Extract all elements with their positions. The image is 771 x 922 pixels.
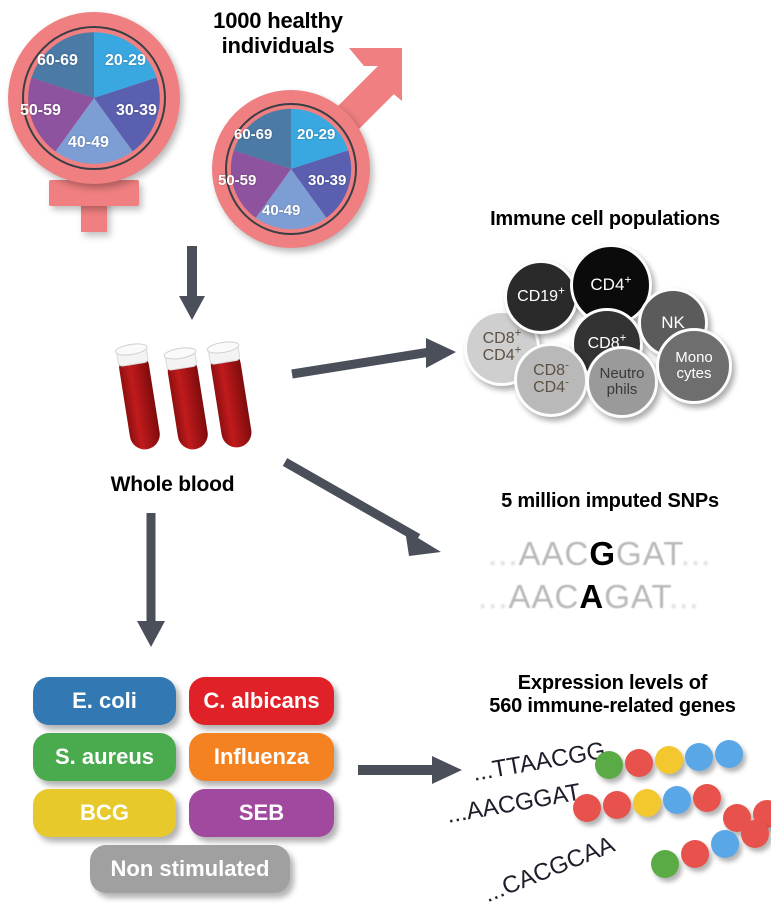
- stimulus-pill-e-coli[interactable]: E. coli: [33, 677, 176, 725]
- immune-cell-cd8p-cd4p-label: CD8+CD4+: [483, 331, 522, 365]
- expression-strand-3-sequence: ...CACGCAA: [480, 831, 619, 909]
- expression-bead: [681, 840, 709, 868]
- stimulus-pill-influenza-label: Influenza: [214, 744, 309, 770]
- snp-row2-suffix: ...: [669, 578, 700, 615]
- snp-row2-prefix: ...: [478, 578, 509, 615]
- immune-populations-title: Immune cell populations: [455, 208, 755, 231]
- diagram-canvas: 1000 healthy individuals 20-29 30-39 40-…: [0, 0, 771, 922]
- male-age-label-50-59: 50-59: [218, 172, 256, 189]
- immune-cell-neutrophils: Neutrophils: [586, 346, 658, 418]
- arrow-stimulation-to-expression: [358, 752, 468, 788]
- stimulus-pill-non-stimulated-label: Non stimulated: [111, 856, 270, 882]
- expression-bead: [651, 850, 679, 878]
- male-age-label-30-39: 30-39: [308, 172, 346, 189]
- arrow-blood-to-immune: [290, 330, 470, 390]
- stimulus-pill-s-aureus-label: S. aureus: [55, 744, 154, 770]
- immune-cell-cd8n-cd4n-label: CD8-CD4-: [533, 363, 569, 397]
- snps-title: 5 million imputed SNPs: [460, 490, 760, 513]
- expression-bead: [693, 784, 721, 812]
- expression-bead: [655, 746, 683, 774]
- arrow-blood-to-stimulation: [134, 513, 168, 648]
- expression-bead: [603, 791, 631, 819]
- male-gender-symbol: 20-29 30-39 40-49 50-59 60-69: [212, 42, 417, 247]
- snp-row1-prefix: ...: [488, 535, 519, 572]
- female-age-label-20-29: 20-29: [105, 52, 146, 70]
- stimulus-pill-c-albicans[interactable]: C. albicans: [189, 677, 334, 725]
- blood-tubes-icon: [108, 338, 263, 458]
- snp-row1-left: AAC: [519, 535, 590, 572]
- immune-cell-neutrophils-label: Neutrophils: [599, 366, 644, 398]
- immune-cell-cd4p-label: CD4+: [590, 276, 631, 294]
- cohort-title-line1: 1000 healthy: [178, 8, 378, 33]
- stimulus-pill-bcg[interactable]: BCG: [33, 789, 176, 837]
- expression-bead: [741, 820, 769, 848]
- stimulus-pill-seb-label: SEB: [239, 800, 284, 826]
- expression-strand-1-sequence: ...TTAACGG: [471, 737, 608, 788]
- snp-sequence-row-2: ...AACAGAT...: [478, 578, 699, 616]
- immune-cell-cluster: CD8+CD4+ CD19+ CD4+ CD8+ NK CD8-CD4- Neu…: [460, 240, 760, 420]
- female-age-label-50-59: 50-59: [20, 102, 61, 120]
- expression-strand-3: ...CACGCAA: [485, 838, 771, 908]
- female-age-label-60-69: 60-69: [37, 52, 78, 70]
- snp-row1-variant: G: [589, 535, 616, 572]
- stimulus-pill-s-aureus[interactable]: S. aureus: [33, 733, 176, 781]
- snp-sequence-row-1: ...AACGGAT...: [488, 535, 711, 573]
- snp-row1-right: GAT: [616, 535, 681, 572]
- expression-bead: [685, 743, 713, 771]
- snp-row2-right: GAT: [604, 578, 669, 615]
- stimulus-pill-influenza[interactable]: Influenza: [189, 733, 334, 781]
- expression-bead: [595, 751, 623, 779]
- expression-bead: [573, 794, 601, 822]
- snp-row2-left: AAC: [509, 578, 580, 615]
- expression-bead: [625, 749, 653, 777]
- immune-cell-monocytes: Monocytes: [656, 328, 732, 404]
- stimulus-pill-bcg-label: BCG: [80, 800, 129, 826]
- stimulus-pill-e-coli-label: E. coli: [72, 688, 137, 714]
- stimulus-pill-non-stimulated[interactable]: Non stimulated: [90, 845, 290, 893]
- immune-cell-cd19p: CD19+: [504, 260, 578, 334]
- expression-title-line1: Expression levels of: [460, 672, 765, 695]
- male-age-label-20-29: 20-29: [297, 126, 335, 143]
- female-gender-symbol: 20-29 30-39 40-49 50-59 60-69: [8, 12, 198, 237]
- immune-cell-cd19p-label: CD19+: [517, 289, 565, 306]
- expression-strands: ...TTAACGG ...AACGGAT ...CACGCAA: [455, 730, 771, 910]
- immune-cell-monocytes-label: Monocytes: [675, 350, 713, 382]
- stimulus-pill-c-albicans-label: C. albicans: [203, 688, 319, 714]
- expression-bead: [663, 786, 691, 814]
- stimulus-pill-seb[interactable]: SEB: [189, 789, 334, 837]
- female-age-label-40-49: 40-49: [68, 134, 109, 152]
- expression-bead: [633, 789, 661, 817]
- male-age-label-60-69: 60-69: [234, 126, 272, 143]
- snp-row1-suffix: ...: [681, 535, 712, 572]
- expression-bead: [711, 830, 739, 858]
- expression-title: Expression levels of 560 immune-related …: [460, 672, 765, 718]
- female-age-label-30-39: 30-39: [116, 102, 157, 120]
- arrow-blood-to-snps: [283, 458, 463, 568]
- expression-bead: [715, 740, 743, 768]
- immune-cell-cd8n-cd4n: CD8-CD4-: [514, 343, 588, 417]
- male-age-label-40-49: 40-49: [262, 202, 300, 219]
- snp-row2-variant: A: [579, 578, 604, 615]
- expression-title-line2: 560 immune-related genes: [460, 695, 765, 718]
- arrow-cohort-to-blood: [175, 246, 209, 322]
- whole-blood-label: Whole blood: [85, 473, 260, 497]
